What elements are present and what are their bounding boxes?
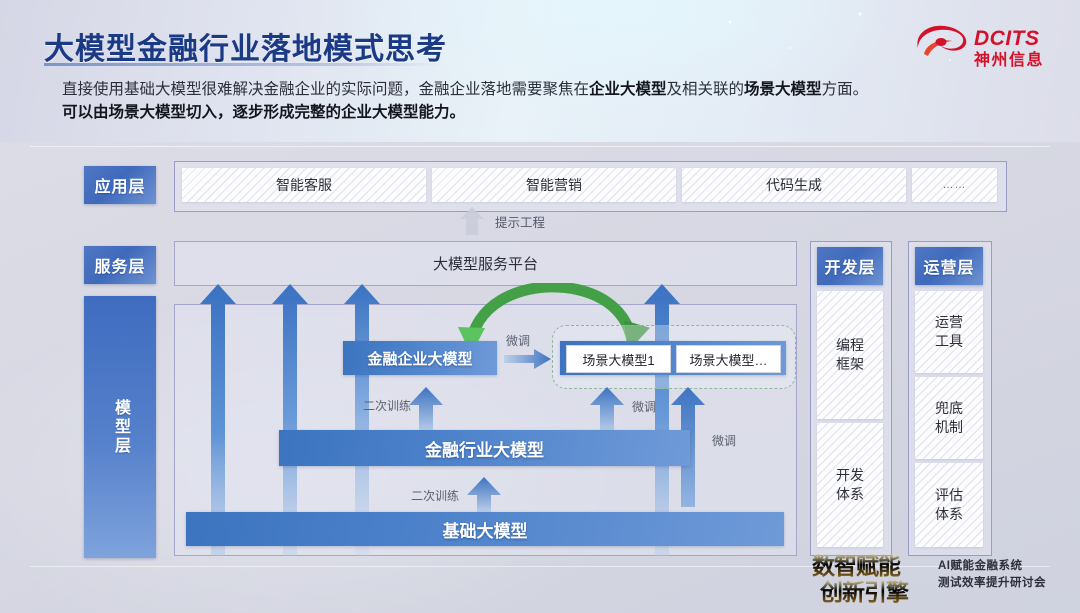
slide-root: 大模型金融行业落地模式思考 直接使用基础大模型很难解决金融企业的实际问题，金融企… bbox=[0, 0, 1080, 613]
finetune-label-1: 微调 bbox=[506, 332, 530, 349]
scenario-model-2[interactable]: 场景大模型… bbox=[676, 345, 781, 373]
prompt-engineering-label: 提示工程 bbox=[495, 212, 545, 231]
event-title-line1: AI赋能金融系统 bbox=[938, 558, 1046, 575]
event-title-line2: 测试效率提升研讨会 bbox=[938, 575, 1046, 592]
ops-item-3-line1: 评估 bbox=[935, 486, 963, 505]
event-logo-watermark: 数智赋能 创新引擎 bbox=[810, 548, 930, 606]
finetune-arrow-right-icon bbox=[504, 349, 552, 369]
logo-text-en: DCITS bbox=[974, 27, 1040, 50]
retrain-arrow-2-icon bbox=[466, 477, 502, 513]
subtitle-text-c: 及相关联的 bbox=[667, 81, 745, 98]
event-title-text: AI赋能金融系统 测试效率提升研讨会 bbox=[938, 558, 1046, 592]
enterprise-model-box[interactable]: 金融企业大模型 bbox=[343, 341, 497, 375]
subtitle-text-a: 直接使用基础大模型很难解决金融企业的实际问题，金融企业落地需要聚焦在 bbox=[62, 81, 589, 98]
foundation-model-box[interactable]: 基础大模型 bbox=[186, 512, 784, 546]
layer-label-service: 服务层 bbox=[84, 246, 156, 284]
app-item-code-generation[interactable]: 代码生成 bbox=[682, 168, 906, 202]
dcits-logo: DCITS 神州信息 bbox=[912, 22, 1062, 70]
ops-item-evaluation-system[interactable]: 评估 体系 bbox=[915, 463, 983, 547]
title-underline bbox=[44, 63, 442, 66]
ops-item-2-line1: 兜底 bbox=[935, 399, 963, 418]
service-platform-panel[interactable]: 大模型服务平台 bbox=[174, 241, 797, 286]
page-subtitle: 直接使用基础大模型很难解决金融企业的实际问题，金融企业落地需要聚焦在企业大模型及… bbox=[62, 78, 992, 124]
watermark-gold-line2: 创新引擎 bbox=[819, 579, 909, 605]
retrain-arrow-1-icon bbox=[408, 387, 444, 431]
ops-item-fallback-mechanism[interactable]: 兜底 机制 bbox=[915, 377, 983, 459]
subtitle-text-e: 方面。 bbox=[822, 81, 869, 98]
retrain-label-2: 二次训练 bbox=[411, 487, 459, 504]
dev-item-1-line2: 框架 bbox=[836, 355, 864, 374]
app-item-smart-marketing[interactable]: 智能营销 bbox=[432, 168, 676, 202]
retrain-label-1: 二次训练 bbox=[363, 397, 411, 414]
logo-swoosh-icon bbox=[917, 26, 966, 56]
subtitle-highlight-scenario: 场景大模型 bbox=[744, 81, 822, 98]
subtitle-highlight-enterprise: 企业大模型 bbox=[589, 81, 667, 98]
layer-label-application: 应用层 bbox=[84, 166, 156, 204]
finetune-label-3: 微调 bbox=[712, 432, 736, 449]
layer-label-model: 模型层 bbox=[84, 296, 156, 558]
dev-item-1-line1: 编程 bbox=[836, 336, 864, 355]
ops-item-1-line1: 运营 bbox=[935, 313, 963, 332]
ops-item-operation-tools[interactable]: 运营 工具 bbox=[915, 291, 983, 373]
finetune-arrow-2-icon bbox=[589, 387, 625, 431]
subtitle-line2: 可以由场景大模型切入，逐步形成完整的企业大模型能力。 bbox=[62, 104, 465, 121]
layer-label-development: 开发层 bbox=[817, 247, 883, 285]
page-title: 大模型金融行业落地模式思考 bbox=[44, 24, 447, 68]
ops-item-3-line2: 体系 bbox=[935, 505, 963, 524]
divider-top bbox=[30, 146, 1050, 147]
ops-item-1-line2: 工具 bbox=[935, 332, 963, 351]
dev-item-2-line1: 开发 bbox=[836, 466, 864, 485]
ops-item-2-line2: 机制 bbox=[935, 418, 963, 437]
app-item-smart-service[interactable]: 智能客服 bbox=[182, 168, 426, 202]
dev-item-2-line2: 体系 bbox=[836, 485, 864, 504]
finetune-label-2: 微调 bbox=[632, 398, 656, 415]
logo-text-cn: 神州信息 bbox=[974, 50, 1044, 69]
scenario-model-1[interactable]: 场景大模型1 bbox=[566, 345, 671, 373]
prompt-engineering-arrow-icon bbox=[459, 206, 485, 236]
dev-item-dev-system[interactable]: 开发 体系 bbox=[817, 423, 883, 547]
industry-model-box[interactable]: 金融行业大模型 bbox=[279, 430, 690, 466]
layer-label-operation: 运营层 bbox=[915, 247, 983, 285]
app-item-more[interactable]: …… bbox=[912, 168, 997, 202]
watermark-gold-line1: 数智赋能 bbox=[812, 553, 901, 579]
dev-item-programming-framework[interactable]: 编程 框架 bbox=[817, 291, 883, 419]
